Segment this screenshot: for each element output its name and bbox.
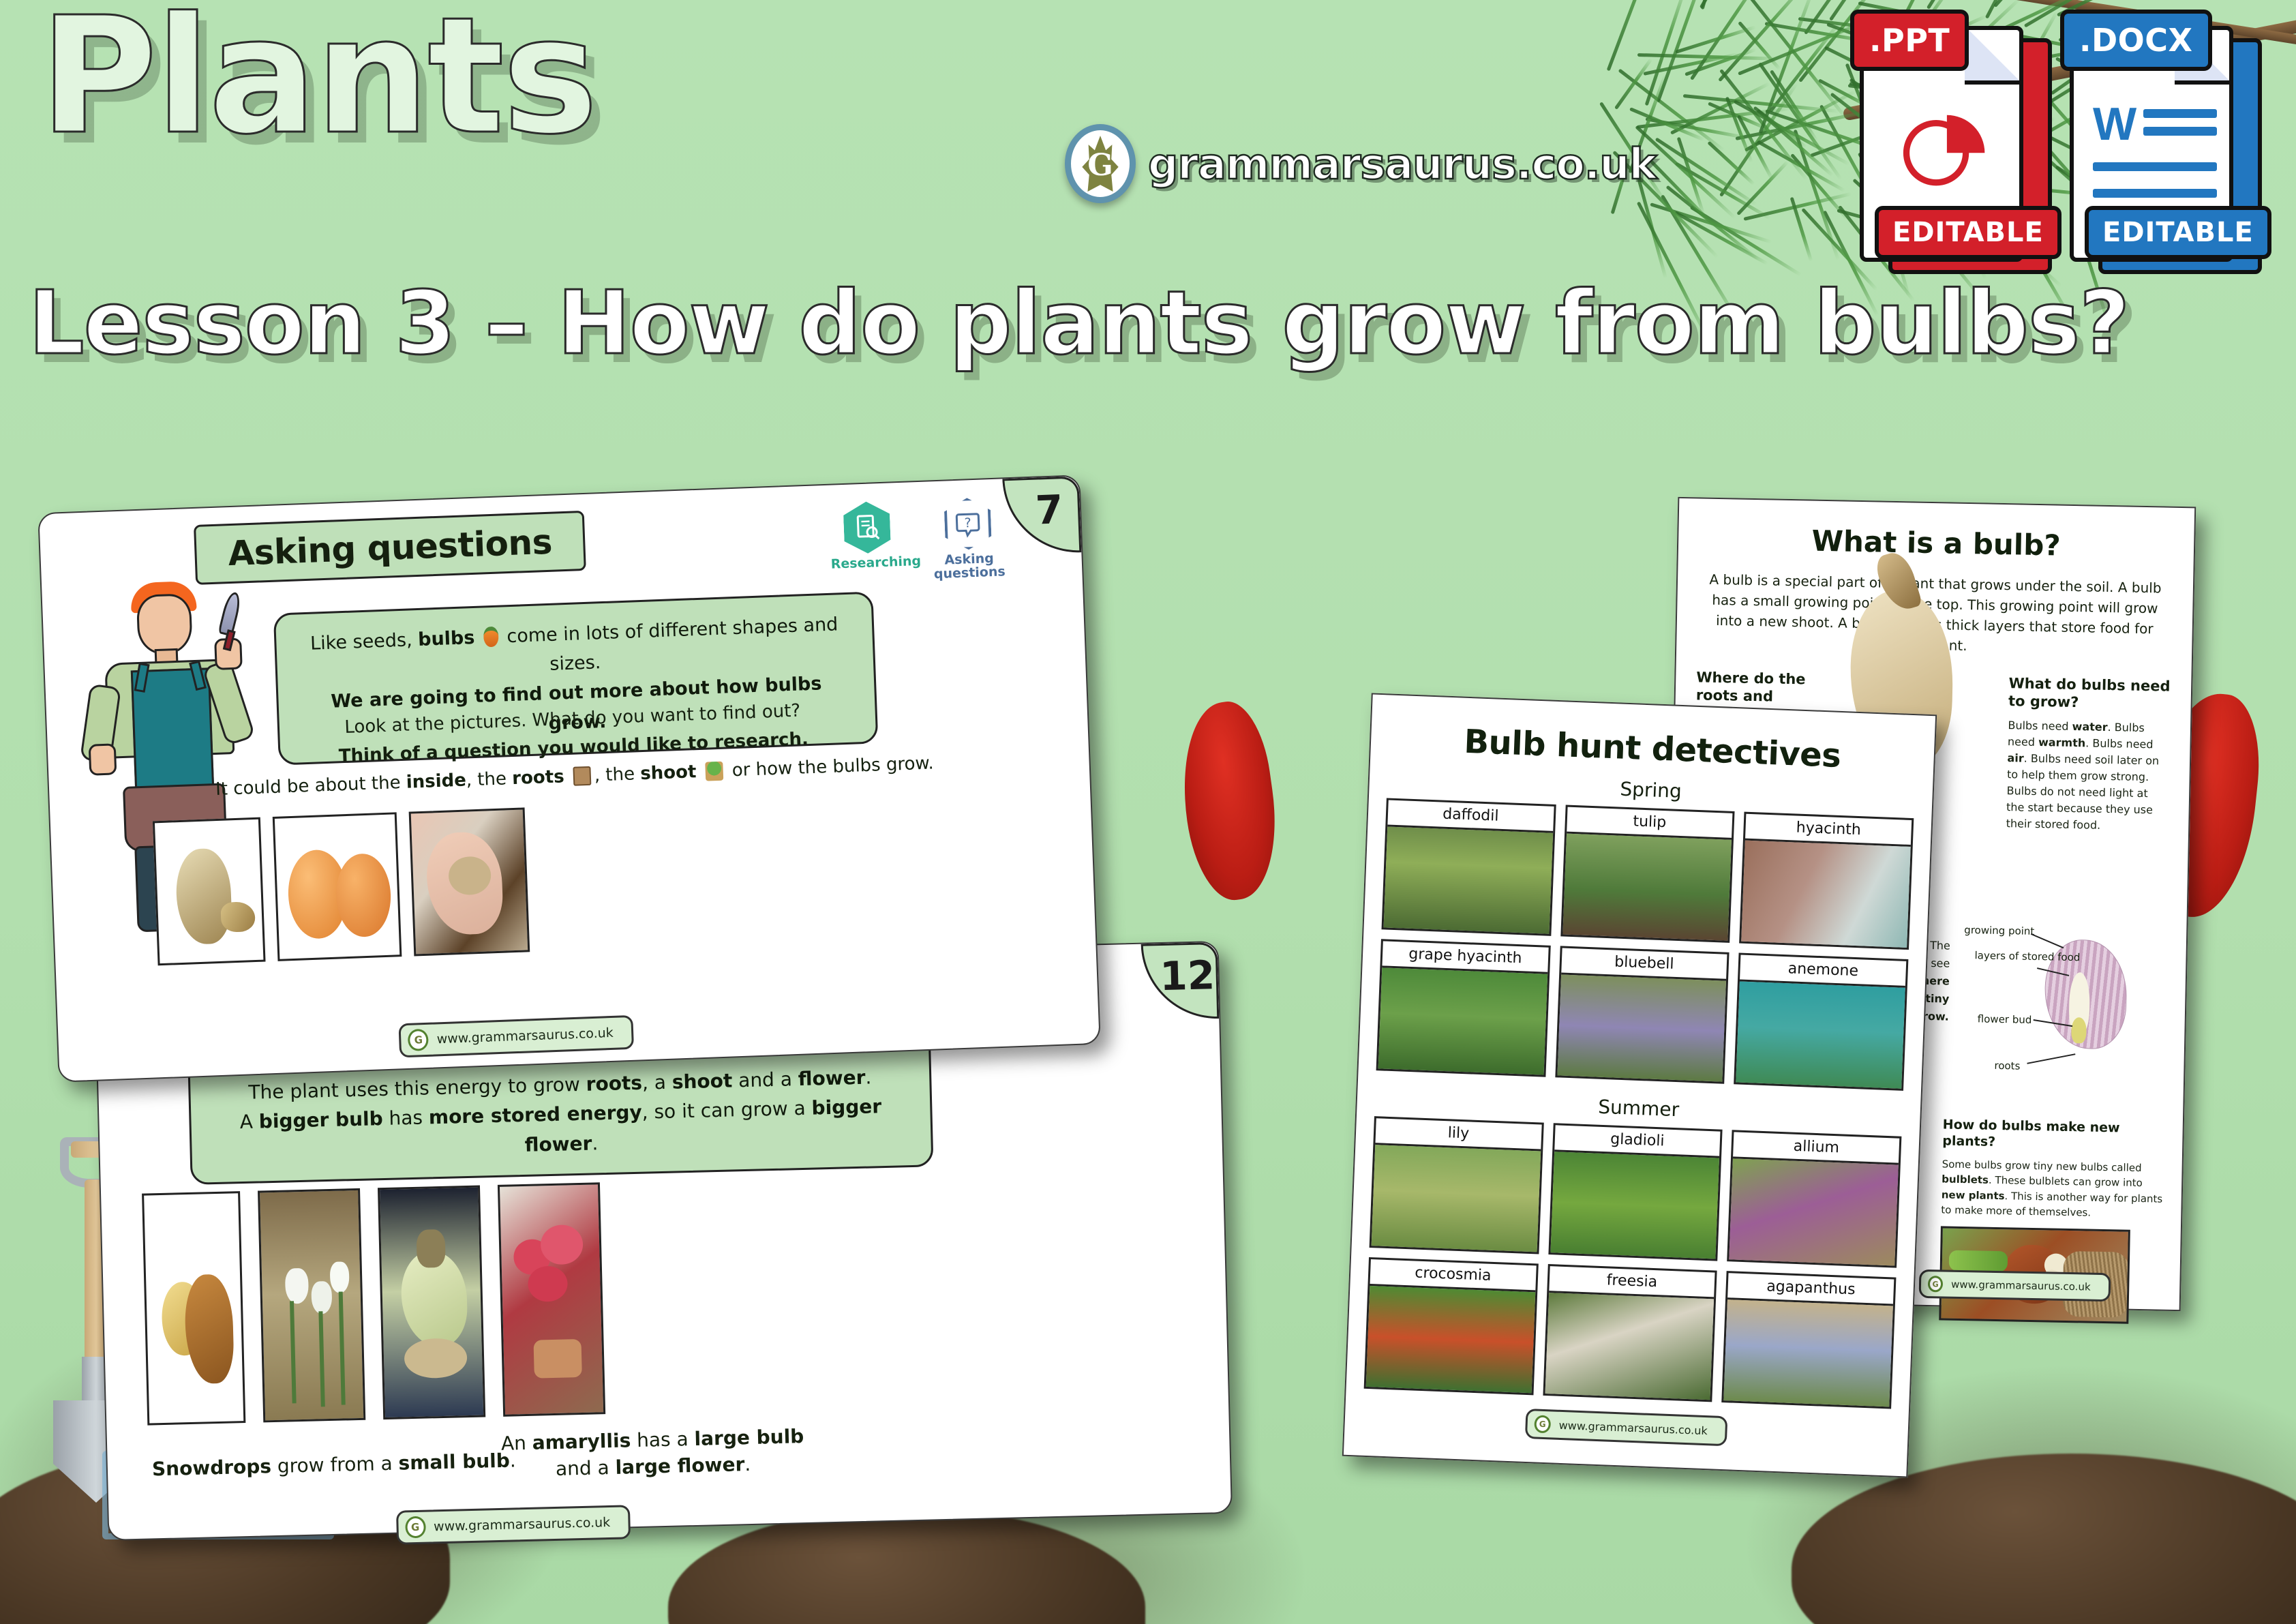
photo-crocosmia [1366,1286,1535,1393]
list-item[interactable]: daffodil [1382,798,1556,935]
pie-chart-icon [1897,102,1987,192]
list-item[interactable]: agapanthus [1722,1271,1897,1409]
label-growing-point: growing point [1964,924,2034,937]
file-format-badges: .PPT EDITABLE W .DOCX EDITABLE [1860,10,2262,274]
slide-7-title: Asking questions [194,511,586,585]
skill-asking-questions-label: Asking questions [931,552,1007,582]
list-item[interactable]: freesia [1543,1264,1717,1402]
slide-12-caption-left: Snowdrops grow from a small bulb. [150,1449,519,1480]
photo-onions [273,812,402,961]
bulb-hunt-footer: G www.grammarsaurus.co.uk [1525,1409,1728,1446]
question-mark-icon: ? [943,497,992,550]
label-roots: roots [1994,1059,2020,1072]
list-item[interactable]: gladioli [1548,1123,1723,1261]
photo-small-bulb [142,1191,245,1425]
photo-daffodil [1384,827,1553,934]
photo-amaryllis-flower [498,1182,605,1417]
skill-researching[interactable]: Researching [828,500,906,586]
photo-freesia [1545,1293,1714,1400]
summer-grid: lily gladioli allium crocosmia freesia a… [1346,1115,1920,1409]
photo-tulip [1562,834,1732,941]
photo-large-amaryllis-bulb [378,1186,485,1420]
bulb-cross-section-diagram: growing point layers of stored food flow… [1961,913,2175,1108]
brand-logo: G grammarsaurus.co.uk [1065,124,1657,203]
slide-12-caption-right: An amaryllis has a large bulb and a larg… [489,1423,817,1484]
photo-snowdrops [258,1188,365,1423]
shoot-emoji-icon [705,762,723,781]
docx-badge[interactable]: W .DOCX EDITABLE [2070,10,2262,274]
photo-bluebell [1557,974,1726,1081]
research-magnifier-icon [843,501,891,554]
footer-logo-icon: G [405,1516,426,1539]
list-item[interactable]: anemone [1734,952,1908,1090]
new-plants-body: Some bulbs grow tiny new bulbs called bu… [1941,1156,2167,1222]
page-subtitle: Lesson 3 – How do plants grow from bulbs… [29,273,2129,374]
photo-anemone [1736,982,1905,1089]
list-item[interactable]: grape hyacinth [1376,939,1551,1077]
footer-logo-icon: G [408,1029,429,1051]
photo-hands-with-bulbs [409,807,530,956]
what-is-bulb-footer: G www.grammarsaurus.co.uk [1919,1269,2111,1302]
list-item[interactable]: bluebell [1555,946,1729,1083]
list-item[interactable]: hyacinth [1739,812,1914,950]
slide-7-footer: G www.grammarsaurus.co.uk [399,1015,634,1058]
logo-letter: G [1071,148,1130,183]
needs-to-grow-body: Bulbs need water. Bulbs need warmth. Bul… [2006,717,2170,835]
page-title: Plants [40,0,596,161]
slide-12-footer: G www.grammarsaurus.co.uk [396,1505,631,1544]
logo-badge-icon: G [1065,124,1136,203]
skill-researching-label: Researching [830,556,906,572]
new-plants-heading: How do bulbs make new plants? [1942,1117,2168,1154]
footer-logo-icon: G [1928,1276,1943,1292]
spring-grid: daffodil tulip hyacinth grape hyacinth b… [1359,797,1932,1091]
bulb-hunt-title: Bulb hunt detectives [1370,719,1935,779]
skill-asking-questions[interactable]: ? Asking questions [929,496,1007,582]
slide-7[interactable]: 7 Asking questions Researching [37,475,1101,1083]
what-is-bulb-right-column: What do bulbs need to grow? Bulbs need w… [2006,674,2171,834]
photo-gladioli [1550,1152,1719,1259]
slide-12-footer-url: www.grammarsaurus.co.uk [434,1515,611,1534]
needs-to-grow-heading: What do bulbs need to grow? [2008,674,2171,713]
photo-grape-hyacinth [1378,967,1547,1074]
bulb-emoji-icon [483,627,498,648]
list-item[interactable]: allium [1727,1130,1902,1267]
list-item[interactable]: tulip [1560,805,1735,943]
photo-lily [1372,1145,1541,1252]
svg-text:?: ? [964,515,971,530]
photo-allium [1729,1158,1899,1265]
what-is-bulb-footer-url: www.grammarsaurus.co.uk [1951,1278,2091,1293]
docx-tag-label: .DOCX [2060,10,2212,71]
photo-sprouting-bulb [153,817,266,966]
label-layers-of-stored-food: layers of stored food [1974,950,2080,963]
list-item[interactable]: lily [1370,1116,1544,1254]
photo-hyacinth [1742,841,1911,948]
worksheet-bulb-hunt-detectives[interactable]: Bulb hunt detectives Spring daffodil tul… [1342,693,1937,1477]
roots-emoji-icon [573,766,591,786]
list-item[interactable]: crocosmia [1364,1257,1539,1395]
footer-logo-icon: G [1534,1415,1551,1433]
photo-agapanthus [1724,1299,1893,1407]
word-document-icon: W [2093,105,2217,198]
page-fold-icon [1965,26,2023,85]
logo-text: grammarsaurus.co.uk [1148,139,1657,189]
label-flower-bud: flower bud [1978,1012,2032,1026]
ppt-tag-label: .PPT [1850,10,1969,71]
docx-editable-label: EDITABLE [2085,206,2271,259]
flower-bud-shape [2071,1017,2087,1043]
bulb-hunt-footer-url: www.grammarsaurus.co.uk [1558,1418,1708,1437]
slide-12-page-number: 12 [1141,942,1220,1021]
ppt-editable-label: EDITABLE [1875,206,2061,259]
slide-7-footer-url: www.grammarsaurus.co.uk [436,1025,614,1047]
ppt-badge[interactable]: .PPT EDITABLE [1860,10,2052,274]
